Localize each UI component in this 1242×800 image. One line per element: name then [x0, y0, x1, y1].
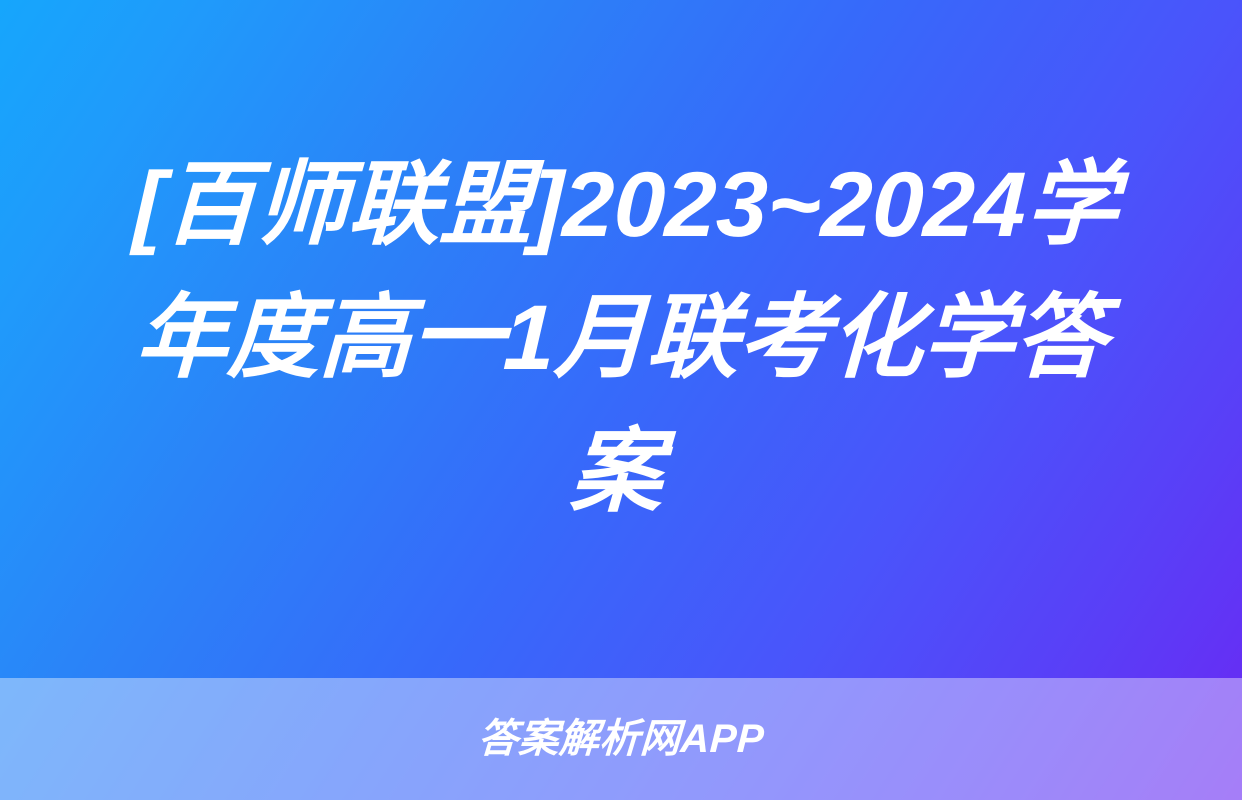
- page-title: [百师联盟]2023~2024学年度高一1月联考化学答案: [89, 139, 1153, 539]
- app-name-label: 答案解析网APP: [477, 719, 765, 759]
- title-block: [百师联盟]2023~2024学年度高一1月联考化学答案: [0, 0, 1242, 678]
- answer-poster: [百师联盟]2023~2024学年度高一1月联考化学答案 答案解析网APP: [0, 0, 1242, 800]
- app-watermark-bar: 答案解析网APP: [0, 678, 1242, 800]
